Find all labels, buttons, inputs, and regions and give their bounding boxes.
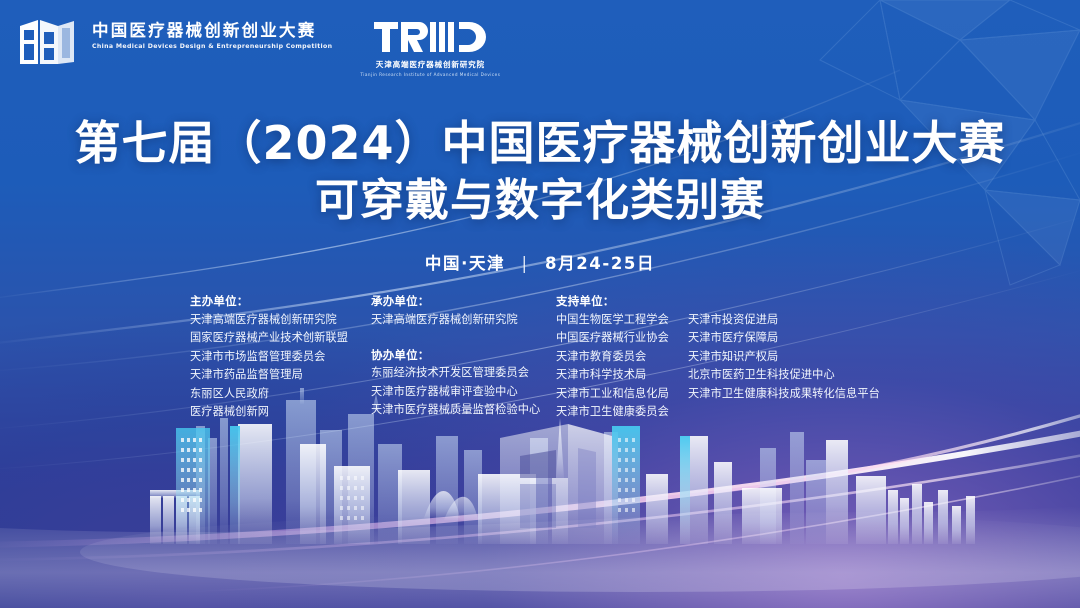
institute-logo: 天津高端医疗器械创新研究院 Tianjin Research Institute… — [360, 18, 500, 77]
open-door-landmark-icon — [500, 424, 612, 544]
organizer-item: 天津市教育委员会 — [556, 348, 688, 367]
group-heading: 协办单位： — [371, 346, 556, 365]
organizer-item: 天津市医疗器械审评查验中心 — [371, 383, 556, 402]
organizer-column-organizer: 承办单位： 天津高端医疗器械创新研究院 协办单位： 东丽经济技术开发区管理委员会… — [371, 292, 556, 420]
trmd-wordmark-icon — [374, 20, 486, 54]
organizer-item: 天津市医疗保障局 — [688, 329, 880, 348]
event-meta: 中国·天津 | 8月24-25日 — [0, 250, 1080, 274]
organizer-item: 中国生物医学工程学会 — [556, 311, 688, 330]
page-title-line2: 可穿戴与数字化类别赛 — [0, 174, 1080, 228]
organizer-column-supporter-a: 支持单位： 中国生物医学工程学会 中国医疗器械行业协会 天津市教育委员会 天津市… — [556, 292, 688, 422]
competition-name-en: China Medical Devices Design & Entrepren… — [92, 43, 332, 50]
title-block: 第七届（2024）中国医疗器械创新创业大赛 可穿戴与数字化类别赛 中国·天津 |… — [0, 116, 1080, 274]
conference-banner: 中国医疗器械创新创业大赛 China Medical Devices Desig… — [0, 0, 1080, 608]
organizer-item: 天津市市场监督管理委员会 — [190, 348, 371, 367]
organizer-item: 天津市知识产权局 — [688, 348, 880, 367]
organizer-group: 支持单位： 中国生物医学工程学会 中国医疗器械行业协会 天津市教育委员会 天津市… — [556, 292, 688, 422]
organizer-item: 天津市卫生健康委员会 — [556, 403, 688, 422]
organizer-item: 中国医疗器械行业协会 — [556, 329, 688, 348]
organizer-group: 天津市投资促进局 天津市医疗保障局 天津市知识产权局 北京市医药卫生科技促进中心… — [688, 292, 880, 403]
group-heading: 承办单位： — [371, 292, 556, 311]
organizer-item: 天津高端医疗器械创新研究院 — [190, 311, 371, 330]
competition-name-cn: 中国医疗器械创新创业大赛 — [92, 22, 332, 40]
header-logos: 中国医疗器械创新创业大赛 China Medical Devices Desig… — [18, 18, 500, 77]
organizer-item: 天津市卫生健康科技成果转化信息平台 — [688, 385, 880, 404]
organizers-block: 主办单位： 天津高端医疗器械创新研究院 国家医疗器械产业技术创新联盟 天津市市场… — [190, 292, 880, 422]
competition-logo-text: 中国医疗器械创新创业大赛 China Medical Devices Desig… — [92, 18, 332, 50]
organizer-item: 医疗器械创新网 — [190, 403, 371, 422]
institute-name-en: Tianjin Research Institute of Advanced M… — [360, 72, 500, 77]
organizer-item: 天津市工业和信息化局 — [556, 385, 688, 404]
organizer-column-host: 主办单位： 天津高端医疗器械创新研究院 国家医疗器械产业技术创新联盟 天津市市场… — [190, 292, 371, 422]
group-heading: 主办单位： — [190, 292, 371, 311]
page-title-line1: 第七届（2024）中国医疗器械创新创业大赛 — [0, 116, 1080, 170]
organizer-item: 天津市投资促进局 — [688, 311, 880, 330]
institute-name-cn: 天津高端医疗器械创新研究院 — [376, 59, 485, 70]
organizer-item: 天津高端医疗器械创新研究院 — [371, 311, 556, 330]
organizer-group: 主办单位： 天津高端医疗器械创新研究院 国家医疗器械产业技术创新联盟 天津市市场… — [190, 292, 371, 422]
meta-separator: | — [522, 254, 529, 273]
organizer-item: 国家医疗器械产业技术创新联盟 — [190, 329, 371, 348]
event-dates: 8月24-25日 — [545, 254, 655, 273]
open-door-logo-icon — [18, 18, 76, 66]
group-heading: 支持单位： — [556, 292, 688, 311]
organizer-item: 天津市科学技术局 — [556, 366, 688, 385]
organizer-item: 东丽区人民政府 — [190, 385, 371, 404]
organizer-item: 天津市医疗器械质量监督检验中心 — [371, 401, 556, 420]
organizer-column-supporter-b: 天津市投资促进局 天津市医疗保障局 天津市知识产权局 北京市医药卫生科技促进中心… — [688, 292, 880, 403]
event-location: 中国·天津 — [425, 254, 505, 273]
organizer-item: 天津市药品监督管理局 — [190, 366, 371, 385]
organizer-group: 协办单位： 东丽经济技术开发区管理委员会 天津市医疗器械审评查验中心 天津市医疗… — [371, 346, 556, 420]
organizer-item: 东丽经济技术开发区管理委员会 — [371, 364, 556, 383]
organizer-group: 承办单位： 天津高端医疗器械创新研究院 — [371, 292, 556, 329]
organizer-item: 北京市医药卫生科技促进中心 — [688, 366, 880, 385]
group-heading-spacer — [688, 292, 880, 311]
